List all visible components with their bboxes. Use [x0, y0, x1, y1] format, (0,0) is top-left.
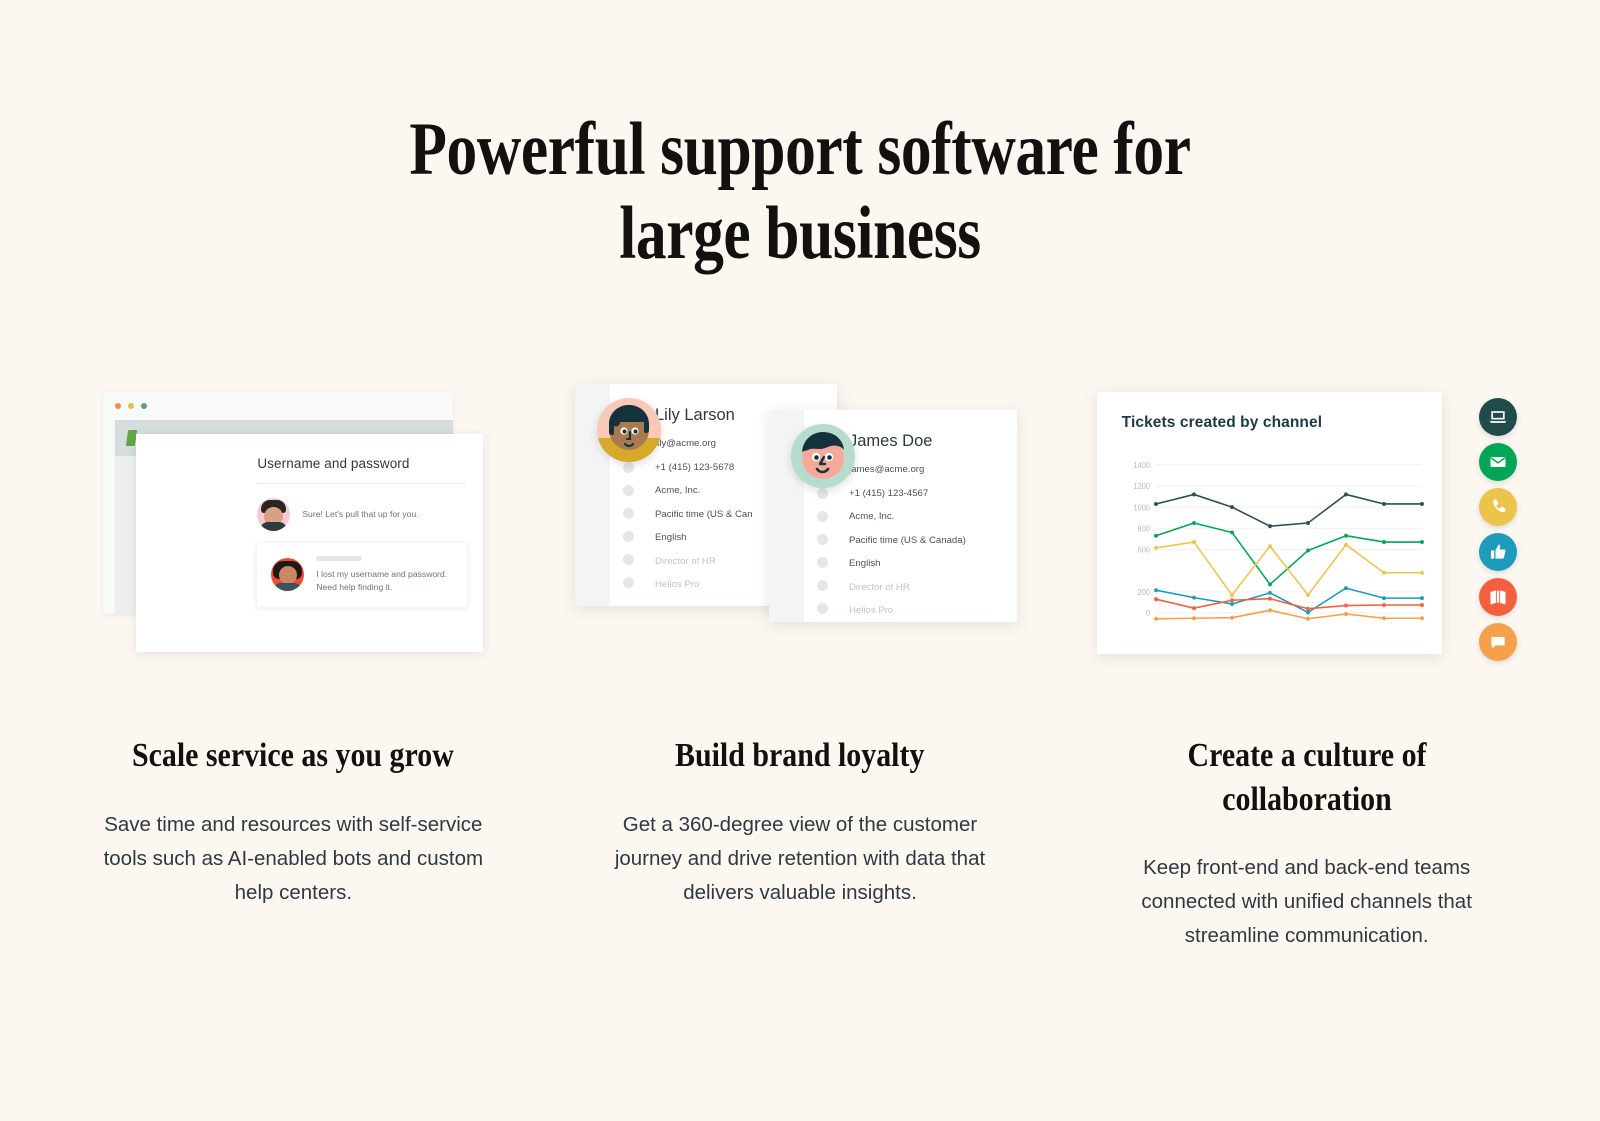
sidebar-skeleton-list — [148, 456, 238, 597]
channel-icon-rail — [1479, 398, 1517, 661]
feature-column-collaboration: Tickets created by channel 1400120010008… — [1053, 384, 1560, 953]
field-bullet-icon — [623, 485, 634, 496]
avatar-agent — [257, 498, 290, 531]
chart-data-point — [1268, 597, 1272, 601]
feature-body: Keep front-end and back-end teams connec… — [1106, 851, 1508, 953]
chart-data-point — [1154, 534, 1158, 538]
skeleton-row — [192, 498, 226, 509]
chart-data-point — [1230, 616, 1234, 620]
chart-data-point — [1306, 549, 1310, 553]
field-bullet-icon — [817, 488, 828, 499]
chart-data-point — [1230, 602, 1234, 606]
avatar-lily — [597, 398, 661, 462]
chart-data-point — [1420, 571, 1424, 575]
message-customer-line-1: I lost my username and password. — [316, 568, 447, 581]
chart-data-point — [1192, 596, 1196, 600]
field-bullet-icon — [623, 554, 634, 565]
chart-data-point — [1154, 546, 1158, 550]
channel-envelope-icon[interactable] — [1479, 443, 1517, 481]
channel-phone-icon[interactable] — [1479, 488, 1517, 526]
chart-series-line — [1156, 494, 1422, 526]
skeleton-row — [148, 477, 236, 488]
skeleton-row — [148, 498, 186, 509]
field-bullet-icon — [817, 580, 828, 591]
chart-data-point — [1230, 598, 1234, 602]
chart-data-point — [1344, 586, 1348, 590]
chart-data-point — [1154, 617, 1158, 621]
contact-name: James Doe — [849, 432, 1017, 451]
field-bullet-icon — [817, 557, 828, 568]
contact-phone: +1 (415) 123-4567 — [849, 488, 1017, 499]
field-bullet-icon — [623, 508, 634, 519]
y-axis-tick-label: 1000 — [1133, 503, 1149, 512]
chart-data-point — [1306, 521, 1310, 525]
chart-data-point — [1420, 596, 1424, 600]
illustration-channel-chart: Tickets created by channel 1400120010008… — [1053, 384, 1560, 674]
field-bullet-icon — [623, 531, 634, 542]
chart-data-point — [1344, 612, 1348, 616]
feature-title: Scale service as you grow — [132, 734, 454, 778]
avatar-face-illustration-icon — [597, 398, 661, 462]
chart-data-point — [1382, 596, 1386, 600]
message-agent: Sure! Let's pull that up for you. — [257, 498, 467, 531]
contact-language: English — [849, 558, 1017, 569]
chart-data-point — [1344, 604, 1348, 608]
body-shape-icon — [260, 522, 287, 531]
skeleton-row — [148, 456, 236, 467]
chart-data-point — [1268, 544, 1272, 548]
line-chart: 1400120010008006002000 — [1122, 450, 1430, 632]
field-bullet-icon — [623, 462, 634, 473]
skeleton-row — [148, 555, 236, 566]
field-bullet-icon — [623, 577, 634, 588]
y-axis-tick-label: 800 — [1137, 524, 1149, 533]
window-dot-minimize-icon — [128, 403, 134, 409]
chart-data-point — [1344, 534, 1348, 538]
message-customer: I lost my username and password. Need he… — [257, 543, 467, 607]
chart-data-point — [1344, 492, 1348, 496]
chart-data-point — [1382, 502, 1386, 506]
skeleton-row — [148, 576, 236, 587]
y-axis-tick-label: 1200 — [1133, 482, 1149, 491]
chart-data-point — [1420, 603, 1424, 607]
chart-data-point — [1306, 593, 1310, 597]
sender-name-skeleton — [316, 556, 362, 561]
avatar-customer — [271, 558, 304, 591]
feature-body: Get a 360-degree view of the customer jo… — [599, 808, 1001, 910]
avatar-face-illustration-icon — [791, 424, 855, 488]
feature-title: Create a culture of collaboration — [1139, 734, 1473, 821]
skeleton-row — [148, 534, 236, 545]
illustration-chat-window: Username and password Sure! Let's pull t… — [40, 384, 547, 674]
field-bullet-icon — [817, 511, 828, 522]
y-axis-tick-label: 0 — [1146, 609, 1150, 618]
page-title-line-2: large business — [619, 192, 981, 275]
channel-thumbs-up-icon[interactable] — [1479, 533, 1517, 571]
message-customer-body: I lost my username and password. Need he… — [316, 556, 447, 594]
channel-laptop-icon[interactable] — [1479, 398, 1517, 436]
chart-plot-area: 1400120010008006002000 — [1122, 450, 1430, 632]
chart-data-point — [1420, 616, 1424, 620]
chart-data-point — [1192, 492, 1196, 496]
chart-data-point — [1420, 540, 1424, 544]
chart-card: Tickets created by channel 1400120010008… — [1097, 392, 1442, 654]
contact-fields-james: James Doe james@acme.org +1 (415) 123-45… — [849, 432, 1017, 629]
page-title-line-1: Powerful support software for — [409, 108, 1190, 191]
divider — [257, 483, 467, 484]
chart-data-point — [1268, 608, 1272, 612]
chart-data-point — [1306, 610, 1310, 614]
contact-role: Director of HR — [849, 582, 1017, 593]
feature-column-brand-loyalty: Lily Larson lily@acme.org +1 (415) 123-5… — [547, 384, 1054, 953]
y-axis-tick-label: 600 — [1137, 545, 1149, 554]
chart-data-point — [1230, 505, 1234, 509]
chart-title: Tickets created by channel — [1097, 392, 1442, 432]
y-axis-tick-label: 1400 — [1133, 461, 1149, 470]
chart-data-point — [1382, 616, 1386, 620]
chart-data-point — [1382, 540, 1386, 544]
chart-data-point — [1268, 524, 1272, 528]
chart-data-point — [1306, 607, 1310, 611]
chart-series-line — [1156, 599, 1422, 609]
page-title: Powerful support software for large busi… — [144, 0, 1456, 276]
chart-data-point — [1192, 540, 1196, 544]
chart-data-point — [1192, 521, 1196, 525]
chart-data-point — [1382, 571, 1386, 575]
conversation-area: Username and password Sure! Let's pull t… — [241, 434, 483, 652]
contact-email: james@acme.org — [849, 464, 1017, 475]
chart-series-line — [1156, 610, 1422, 618]
chart-data-point — [1344, 543, 1348, 547]
chat-panel: Username and password Sure! Let's pull t… — [136, 434, 483, 652]
conversation-heading: Username and password — [257, 456, 467, 471]
chart-data-point — [1154, 502, 1158, 506]
chart-data-point — [1230, 531, 1234, 535]
chart-data-point — [1306, 617, 1310, 621]
window-dot-maximize-icon — [141, 403, 147, 409]
avatar-james — [791, 424, 855, 488]
body-shape-icon — [273, 583, 302, 591]
feature-column-scale-service: Username and password Sure! Let's pull t… — [40, 384, 547, 953]
chart-data-point — [1192, 616, 1196, 620]
channel-chat-bubble-icon[interactable] — [1479, 623, 1517, 661]
channel-book-icon[interactable] — [1479, 578, 1517, 616]
chart-data-point — [1420, 502, 1424, 506]
feature-body: Save time and resources with self-servic… — [92, 808, 494, 910]
y-axis-tick-label: 200 — [1137, 588, 1149, 597]
field-bullet-icon — [817, 603, 828, 614]
field-bullet-list — [623, 462, 634, 600]
illustration-contact-cards: Lily Larson lily@acme.org +1 (415) 123-5… — [547, 384, 1054, 674]
window-dot-close-icon — [115, 403, 121, 409]
contact-timezone: Pacific time (US & Canada) — [849, 535, 1017, 546]
message-agent-text: Sure! Let's pull that up for you. — [302, 508, 418, 521]
message-customer-line-2: Need help finding it. — [316, 581, 447, 594]
contact-company: Acme, Inc. — [849, 511, 1017, 522]
chart-series-line — [1156, 523, 1422, 584]
field-bullet-list — [817, 488, 828, 626]
field-bullet-icon — [817, 534, 828, 545]
chart-data-point — [1268, 582, 1272, 586]
face-shape-icon — [279, 566, 297, 584]
feature-columns: Username and password Sure! Let's pull t… — [0, 384, 1600, 953]
chart-data-point — [1154, 597, 1158, 601]
chart-data-point — [1382, 603, 1386, 607]
feature-title: Build brand loyalty — [675, 734, 924, 778]
chart-data-point — [1154, 588, 1158, 592]
chart-data-point — [1192, 606, 1196, 610]
contact-card-james: James Doe james@acme.org +1 (415) 123-45… — [769, 410, 1017, 622]
chart-data-point — [1230, 593, 1234, 597]
chart-data-point — [1268, 591, 1272, 595]
contact-plan: Helios Pro — [849, 605, 1017, 616]
window-control-dots — [103, 392, 453, 409]
